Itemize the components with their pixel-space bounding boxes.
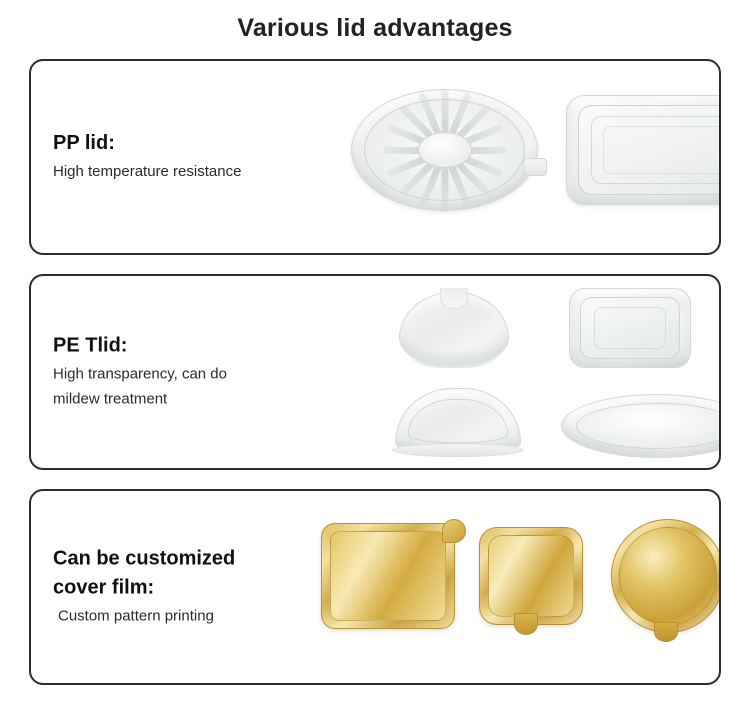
custom-heading-line-2: cover film: [53,575,315,601]
pp-heading: PP lid: [53,130,315,156]
pe-description-line-1: High transparency, can do [53,362,315,387]
pp-image-zone [321,61,719,253]
round-lid-center-hub [418,132,472,168]
pe-description-line-2: mildew treatment [53,387,315,412]
card-custom-cover-film: Can be customized cover film: Custom pat… [29,489,721,685]
gold-round-foil-lid-image [611,519,721,633]
page-title: Various lid advantages [0,0,750,43]
round-pp-lid-image [351,89,538,211]
custom-description-line-1: Custom pattern printing [53,604,315,629]
card-pe-lid: PE Tlid: High transparency, can do milde… [29,274,721,470]
pe-heading: PE Tlid: [53,333,315,359]
pe-text-block: PE Tlid: High transparency, can do milde… [53,333,315,412]
pp-text-block: PP lid: High temperature resistance [53,130,315,184]
heart-shaped-pe-lid-image [399,292,509,366]
page-root: Various lid advantages PP lid: High temp… [0,0,750,713]
oval-pe-lid-image [561,394,721,458]
round-lid-tab [523,158,547,176]
pe-image-zone [321,276,719,468]
dome-pe-lid-image [395,388,521,456]
square-pe-lid-image [569,288,691,368]
custom-image-zone [321,491,719,683]
custom-heading-line-1: Can be customized [53,546,315,572]
round-lid-inner-ring [364,99,525,201]
gold-rectangular-foil-lid-image [321,523,455,629]
card-pp-lid: PP lid: High temperature resistance [29,59,721,255]
gold-square-foil-lid-image [479,527,583,625]
pp-description-line-1: High temperature resistance [53,159,315,184]
custom-text-block: Can be customized cover film: Custom pat… [53,546,315,629]
rectangular-pp-lid-image [566,95,721,205]
